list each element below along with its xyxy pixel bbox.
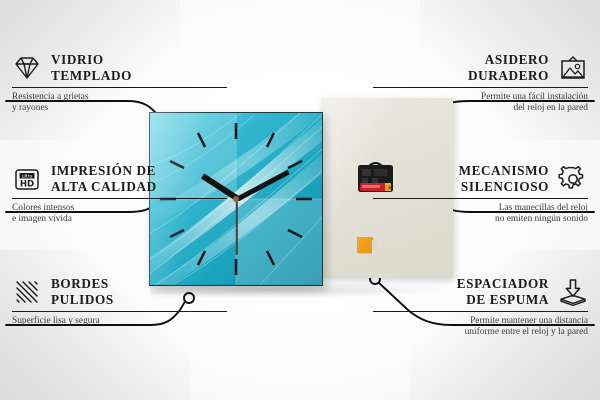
feature-header: VIDRIO TEMPLADO xyxy=(12,52,227,83)
feature-mecanismo-silencioso: MECANISMO SILENCIOSO Las manecillas del … xyxy=(373,163,588,225)
clock-center-cap xyxy=(233,196,239,202)
gear-icon xyxy=(558,164,588,194)
svg-text:ultra: ultra xyxy=(22,173,33,179)
feature-description: Permite mantener una distancia uniforme … xyxy=(373,316,588,338)
feature-title: VIDRIO TEMPLADO xyxy=(51,52,132,83)
feature-divider xyxy=(12,87,227,88)
diamond-icon xyxy=(12,53,42,83)
feature-vidrio-templado: VIDRIO TEMPLADO Resistencia a grietas y … xyxy=(12,52,227,114)
feature-header: ASIDERO DURADERO xyxy=(373,52,588,83)
feature-description: Las manecillas del reloj no emiten ningú… xyxy=(373,203,588,225)
feature-asidero-duradero: ASIDERO DURADERO Permite una fácil insta… xyxy=(373,52,588,114)
polished-edges-icon xyxy=(12,277,42,307)
feature-divider xyxy=(373,198,588,199)
feature-impresion-alta-calidad: ultra HD IMPRESIÓN DE ALTA CALIDAD Color… xyxy=(12,163,227,225)
feature-title: ASIDERO DURADERO xyxy=(468,52,549,83)
feature-divider xyxy=(373,87,588,88)
feature-description: Resistencia a grietas y rayones xyxy=(12,92,227,114)
feature-title: MECANISMO SILENCIOSO xyxy=(459,163,549,194)
foam-spacer-icon xyxy=(558,277,588,307)
svg-text:HD: HD xyxy=(20,179,34,189)
feature-header: BORDES PULIDOS xyxy=(12,276,227,307)
foam-spacer-part xyxy=(357,237,373,253)
infographic-canvas: + xyxy=(0,0,600,400)
ultra-hd-icon: ultra HD xyxy=(12,164,42,194)
feature-header: MECANISMO SILENCIOSO xyxy=(373,163,588,194)
feature-divider xyxy=(12,198,227,199)
feature-header: ultra HD IMPRESIÓN DE ALTA CALIDAD xyxy=(12,163,227,194)
feature-title: ESPACIADOR DE ESPUMA xyxy=(457,276,549,307)
feature-description: Colores intensos e imagen vívida xyxy=(12,203,227,225)
picture-hanger-icon xyxy=(558,53,588,83)
feature-title: BORDES PULIDOS xyxy=(51,276,114,307)
feature-header: ESPACIADOR DE ESPUMA xyxy=(373,276,588,307)
feature-divider xyxy=(12,311,227,312)
feature-description: Permite una fácil instalación del reloj … xyxy=(373,92,588,114)
clock-second-hand xyxy=(236,199,238,255)
feature-description: Superficie lisa y segura xyxy=(12,316,227,327)
feature-espaciador-de-espuma: ESPACIADOR DE ESPUMA Permite mantener un… xyxy=(373,276,588,338)
feature-title: IMPRESIÓN DE ALTA CALIDAD xyxy=(51,163,157,194)
feature-divider xyxy=(373,311,588,312)
feature-bordes-pulidos: BORDES PULIDOS Superficie lisa y segura xyxy=(12,276,227,327)
